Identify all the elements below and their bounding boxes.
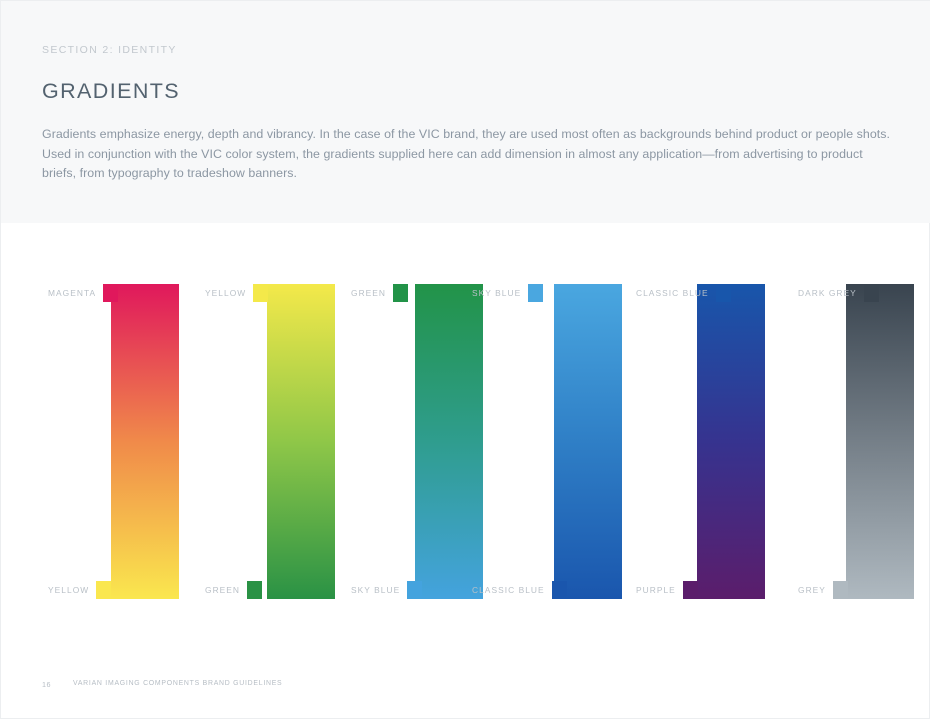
gradient-bar [267,284,335,599]
brand-guidelines-page: SECTION 2: IDENTITY GRADIENTS Gradients … [0,0,930,719]
color-name-label: GREEN [351,288,386,298]
gradient-start-caption: DARK GREY [798,284,879,302]
color-swatch [103,284,118,302]
header-band: SECTION 2: IDENTITY GRADIENTS Gradients … [1,1,930,223]
color-swatch [96,581,111,599]
gradient-bar [846,284,914,599]
color-name-label: CLASSIC BLUE [636,288,709,298]
intro-paragraph: Gradients emphasize energy, depth and vi… [42,125,892,184]
gradient-start-caption: SKY BLUE [472,284,543,302]
color-name-label: YELLOW [48,585,89,595]
section-eyebrow: SECTION 2: IDENTITY [42,44,177,56]
color-swatch [247,581,262,599]
color-name-label: GREY [798,585,826,595]
page-title: GRADIENTS [42,79,180,104]
color-name-label: YELLOW [205,288,246,298]
color-swatch [407,581,422,599]
color-swatch [393,284,408,302]
gradient-bar [554,284,622,599]
gradient-end-caption: YELLOW [48,581,111,599]
color-name-label: CLASSIC BLUE [472,585,545,595]
color-swatch [716,284,731,302]
gradient-bar [697,284,765,599]
page-footer: 16 VARIAN IMAGING COMPONENTS BRAND GUIDE… [1,670,930,718]
gradient-start-caption: MAGENTA [48,284,118,302]
color-name-label: SKY BLUE [351,585,400,595]
footer-page-number: 16 [42,680,51,689]
color-swatch [253,284,268,302]
gradient-swatch-row: MAGENTAYELLOWYELLOWGREENGREENSKY BLUESKY… [1,223,930,653]
color-name-label: GREEN [205,585,240,595]
color-swatch [833,581,848,599]
footer-document-title: VARIAN IMAGING COMPONENTS BRAND GUIDELIN… [73,680,282,687]
color-name-label: MAGENTA [48,288,96,298]
color-swatch [864,284,879,302]
color-name-label: PURPLE [636,585,676,595]
color-swatch [683,581,698,599]
gradient-start-caption: GREEN [351,284,408,302]
gradient-end-caption: GREEN [205,581,262,599]
gradient-bar [415,284,483,599]
color-name-label: DARK GREY [798,288,857,298]
gradient-start-caption: CLASSIC BLUE [636,284,731,302]
gradient-end-caption: SKY BLUE [351,581,422,599]
color-name-label: SKY BLUE [472,288,521,298]
gradient-start-caption: YELLOW [205,284,268,302]
color-swatch [528,284,543,302]
gradient-end-caption: CLASSIC BLUE [472,581,567,599]
color-swatch [552,581,567,599]
gradient-bar [111,284,179,599]
gradient-end-caption: GREY [798,581,848,599]
gradient-end-caption: PURPLE [636,581,698,599]
